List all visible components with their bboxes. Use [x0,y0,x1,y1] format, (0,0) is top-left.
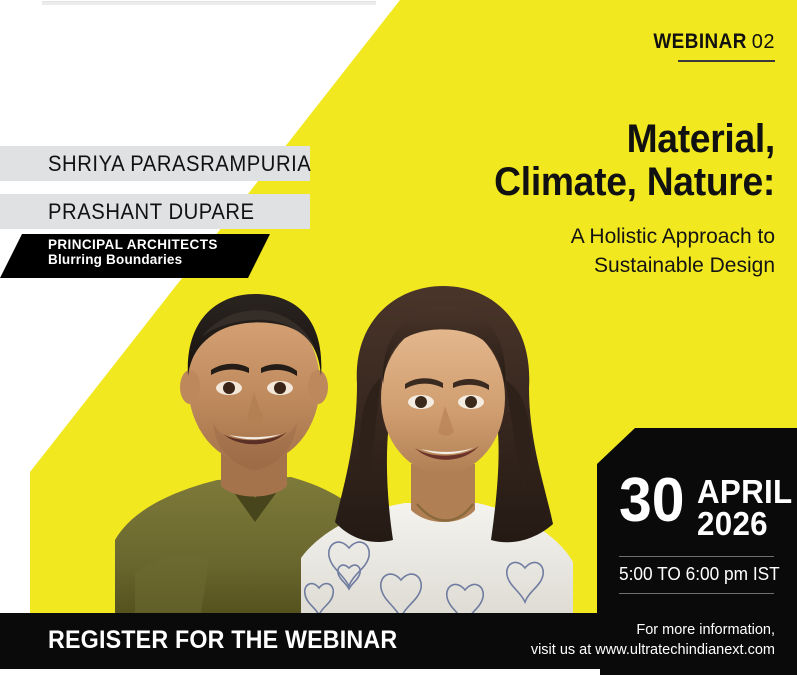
date-row: 30 APRIL 2026 [619,474,797,541]
webinar-poster: SHRIYA PARASRAMPURIA PRASHANT DUPARE PRI… [0,0,797,675]
webinar-number: 02 [752,31,775,53]
speaker-name-1: SHRIYA PARASRAMPURIA [48,151,311,177]
footer-info: For more information, visit us at www.ul… [531,620,775,660]
speaker-name-bar-2: PRASHANT DUPARE [0,194,310,229]
footer-info-line-2[interactable]: visit us at www.ultratechindianext.com [531,640,775,660]
webinar-kicker-line: WEBINAR02 [643,30,775,54]
title-line-1: Material, [384,118,775,161]
role-banner-text: PRINCIPAL ARCHITECTS Blurring Boundaries [48,234,270,267]
date-day: 30 [619,474,685,527]
webinar-kicker: WEBINAR02 [643,30,775,62]
subtitle-line-1: A Holistic Approach to [355,223,775,252]
footer-info-line-1: For more information, [531,620,775,640]
page-subtitle: A Holistic Approach to Sustainable Desig… [355,223,775,280]
speakers-photo [105,272,610,613]
speaker-name-2: PRASHANT DUPARE [48,199,255,225]
date-rule-bottom [619,593,774,594]
kicker-underline [678,60,775,62]
speaker-name-bar-1: SHRIYA PARASRAMPURIA [0,146,310,181]
footer-bottom-sliver [0,669,600,675]
date-rule-top [619,556,774,557]
top-hairline-divider [42,1,376,5]
title-line-2: Climate, Nature: [384,161,775,204]
date-time: 5:00 TO 6:00 pm IST [619,564,780,585]
page-title: Material, Climate, Nature: [355,118,775,204]
date-month-year: APRIL 2026 [697,474,797,541]
role-title: PRINCIPAL ARCHITECTS [48,237,270,252]
webinar-label: WEBINAR [653,30,746,54]
role-company: Blurring Boundaries [48,252,270,267]
subtitle-line-2: Sustainable Design [355,252,775,281]
date-year: 2026 [697,508,792,540]
speakers-photo-svg [105,272,610,613]
date-month: APRIL [697,476,792,508]
register-cta[interactable]: REGISTER FOR THE WEBINAR [48,626,397,655]
